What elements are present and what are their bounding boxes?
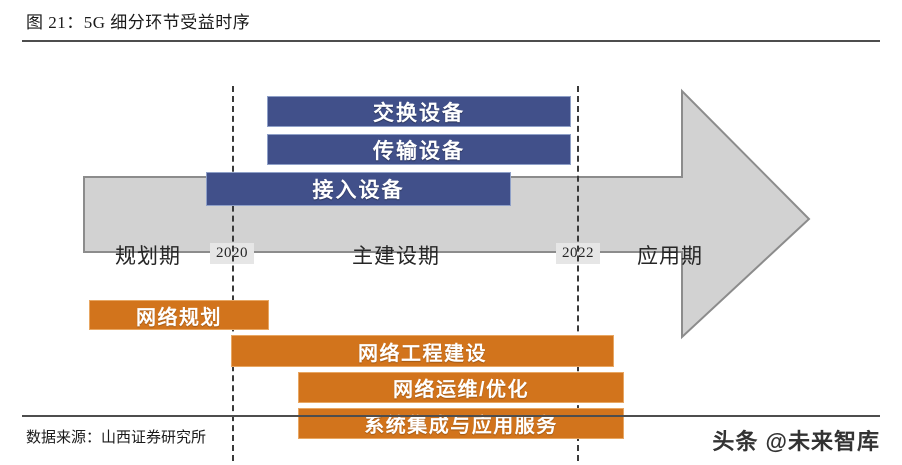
phase-label-planning: 规划期 <box>115 240 181 270</box>
phase-label-application: 应用期 <box>637 240 703 270</box>
figure-container: 图 21：5G 细分环节受益时序 规划期 主建设期 应用期 2020 2022 … <box>0 0 902 465</box>
bar-switching-equipment: 交换设备 <box>267 96 571 127</box>
bar-access-equipment: 接入设备 <box>206 172 511 206</box>
source-note: 数据来源：山西证券研究所 <box>26 426 206 447</box>
bar-network-planning: 网络规划 <box>89 300 269 330</box>
page-title: 图 21：5G 细分环节受益时序 <box>26 8 250 33</box>
divider-bottom-rule <box>22 415 880 417</box>
bar-network-operation-optimization: 网络运维/优化 <box>298 372 624 403</box>
bar-system-integration-application-service: 系统集成与应用服务 <box>298 408 624 439</box>
bar-transmission-equipment: 传输设备 <box>267 134 571 165</box>
phase-label-construction: 主建设期 <box>352 240 440 270</box>
bar-network-engineering-construction: 网络工程建设 <box>231 335 614 367</box>
watermark-label: 头条 @未来智库 <box>712 424 880 456</box>
gridline-2022 <box>577 86 579 461</box>
timeline-chart: 规划期 主建设期 应用期 2020 2022 交换设备 传输设备 接入设备 网络… <box>0 42 902 414</box>
gridline-2020 <box>232 86 234 461</box>
